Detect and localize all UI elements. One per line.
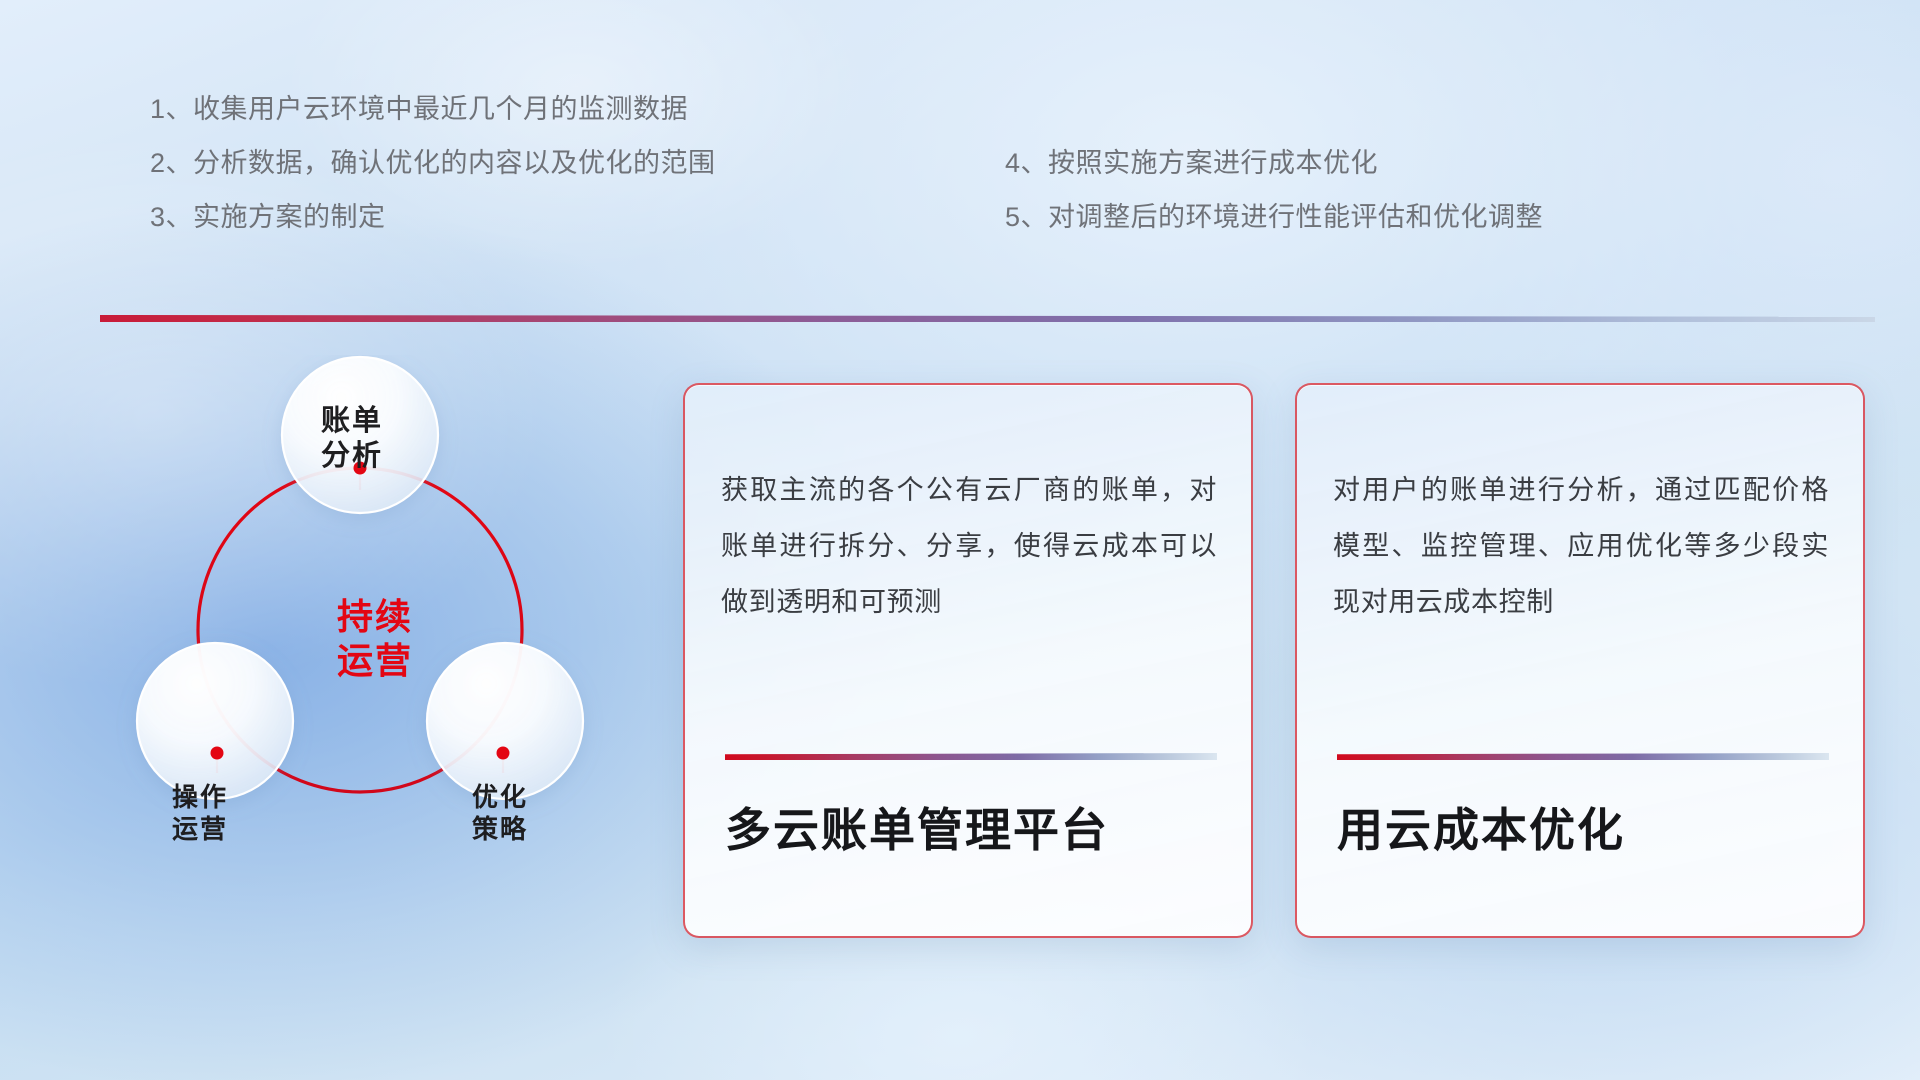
- card-body: 对用户的账单进行分析，通过匹配价格模型、监控管理、应用优化等多少段实现对用云成本…: [1333, 463, 1829, 631]
- card-body: 获取主流的各个公有云厂商的账单，对账单进行拆分、分享，使得云成本可以做到透明和可…: [721, 463, 1217, 631]
- card-title: 多云账单管理平台: [725, 803, 1221, 858]
- venn-anchor-dot-top: [354, 462, 367, 475]
- card-divider-rule: [1337, 753, 1829, 760]
- process-steps-left: 1、收集用户云环境中最近几个月的监测数据 2、分析数据，确认优化的内容以及优化的…: [150, 96, 716, 258]
- process-step-4: 4、按照实施方案进行成本优化: [1005, 150, 1543, 177]
- process-step-1: 1、收集用户云环境中最近几个月的监测数据: [150, 96, 716, 123]
- card-description: 获取主流的各个公有云厂商的账单，对账单进行拆分、分享，使得云成本可以做到透明和可…: [721, 463, 1217, 631]
- info-card-multi-cloud-billing-platform[interactable]: 获取主流的各个公有云厂商的账单，对账单进行拆分、分享，使得云成本可以做到透明和可…: [683, 383, 1253, 938]
- process-step-2: 2、分析数据，确认优化的内容以及优化的范围: [150, 150, 716, 177]
- card-divider-rule: [725, 753, 1217, 760]
- venn-node-operations[interactable]: [137, 643, 293, 799]
- card-description: 对用户的账单进行分析，通过匹配价格模型、监控管理、应用优化等多少段实现对用云成本…: [1333, 463, 1829, 631]
- info-card-cloud-cost-optimization[interactable]: 对用户的账单进行分析，通过匹配价格模型、监控管理、应用优化等多少段实现对用云成本…: [1295, 383, 1865, 938]
- card-title: 用云成本优化: [1337, 803, 1833, 858]
- process-step-5: 5、对调整后的环境进行性能评估和优化调整: [1005, 204, 1543, 231]
- venn-anchor-dot-right: [497, 747, 510, 760]
- venn-diagram: [95, 355, 655, 945]
- venn-anchor-dot-left: [211, 747, 224, 760]
- process-step-3: 3、实施方案的制定: [150, 204, 716, 231]
- venn-node-billing-analysis[interactable]: [282, 357, 438, 513]
- process-steps-right: 4、按照实施方案进行成本优化 5、对调整后的环境进行性能评估和优化调整: [1005, 150, 1543, 258]
- venn-node-optimization-strategy[interactable]: [427, 643, 583, 799]
